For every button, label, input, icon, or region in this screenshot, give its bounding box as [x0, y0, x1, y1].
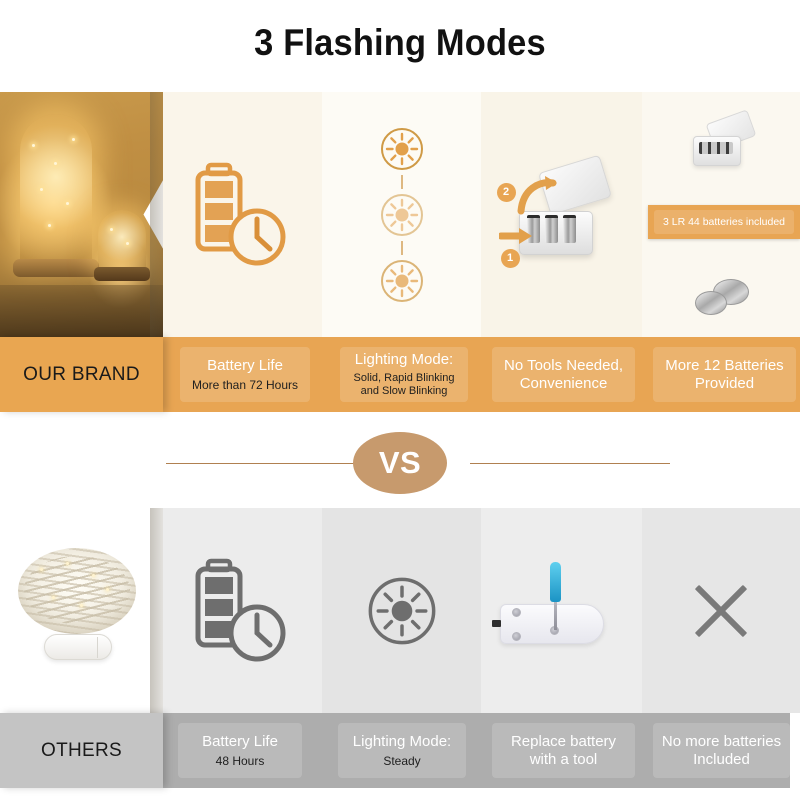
screwdriver-case-icon [492, 556, 632, 666]
our-brand-photo [0, 92, 163, 337]
battery-box-icon: 2 1 [497, 155, 627, 275]
feature-card-no-batteries-bottom: No more batteries Included [653, 723, 790, 778]
panel-lighting-mode-bottom [322, 508, 481, 713]
feature-title: Lighting Mode: [355, 351, 453, 369]
feature-title: No more batteries [662, 733, 781, 751]
coin-cell-batteries-icon [689, 277, 753, 319]
sun-icon-rapid-blink [378, 191, 426, 239]
vs-divider: VS [0, 432, 800, 496]
others-row: OTHERS Battery Life 48 Hours Lighting Mo… [0, 508, 800, 788]
our-brand-row: 2 1 3 LR 44 batter [0, 92, 800, 420]
infographic-page: 3 Flashing Modes [0, 0, 800, 800]
panel-lighting-mode-top [322, 92, 481, 337]
others-label-bar: OTHERS Battery Life 48 Hours Lighting Mo… [0, 713, 790, 788]
feature-title-line2: Provided [695, 375, 754, 393]
feature-subtitle: More than 72 Hours [192, 378, 298, 392]
page-title: 3 Flashing Modes [28, 22, 772, 64]
step-marker-1: 1 [501, 249, 520, 268]
panel-battery-life-top [163, 92, 322, 337]
feature-title: Lighting Mode: [353, 733, 451, 751]
others-photo [0, 508, 163, 713]
badge-label: 3 LR 44 batteries included [654, 210, 794, 234]
sun-connector-2 [397, 241, 407, 255]
step-1-arrow-icon [499, 225, 533, 247]
our-brand-panels: 2 1 3 LR 44 batter [0, 92, 800, 337]
vs-line-left [166, 463, 362, 464]
feature-subtitle: Solid, Rapid Blinking [354, 372, 455, 385]
sun-icon-slow-blink [378, 257, 426, 305]
our-brand-label: OUR BRAND [0, 337, 163, 412]
battery-clock-icon [195, 161, 291, 269]
panel-no-tools-top: 2 1 [481, 92, 642, 337]
feature-title: Replace battery [511, 733, 616, 751]
batteries-included-badge: 3 LR 44 batteries included [648, 205, 800, 239]
feature-subtitle: 48 Hours [216, 754, 265, 768]
others-label: OTHERS [0, 713, 163, 788]
feature-card-batteries-provided-top: More 12 Batteries Provided [653, 347, 796, 402]
table-surface [0, 285, 163, 337]
sun-icon-solid [378, 125, 426, 173]
fairy-light-coil [18, 548, 136, 634]
feature-subtitle-line2: and Slow Blinking [361, 385, 448, 398]
vs-badge: VS [353, 432, 447, 494]
panel-batteries-provided-top: 3 LR 44 batteries included [642, 92, 800, 337]
panel-replace-battery-bottom [481, 508, 642, 713]
sun-icon [364, 573, 440, 649]
step-2-arrow-icon [515, 175, 559, 215]
case-tab [492, 620, 501, 627]
feature-title-line2: with a tool [530, 751, 598, 769]
battery-pack [44, 634, 112, 660]
panel-battery-life-bottom [163, 508, 322, 713]
string-light-photo-image [0, 508, 163, 713]
sun-connector-1 [397, 175, 407, 189]
battery-clock-icon [195, 557, 291, 665]
vs-line-right [470, 463, 670, 464]
panel-no-batteries-bottom [642, 508, 800, 713]
feature-title-line2: Convenience [520, 375, 608, 393]
feature-title: No Tools Needed, [504, 357, 623, 375]
feature-card-lighting-mode-bottom: Lighting Mode: Steady [338, 723, 466, 778]
feature-card-battery-life-bottom: Battery Life 48 Hours [178, 723, 302, 778]
feature-subtitle: Steady [383, 754, 420, 768]
step-marker-2: 2 [497, 183, 516, 202]
feature-title: Battery Life [202, 733, 278, 751]
dome-lamp-small [98, 210, 146, 270]
our-brand-label-bar: OUR BRAND Battery Life More than 72 Hour… [0, 337, 800, 412]
feature-card-replace-battery-bottom: Replace battery with a tool [492, 723, 635, 778]
feature-title: More 12 Batteries [665, 357, 783, 375]
lamp-photo-image [0, 92, 163, 337]
battery-box-small-icon [691, 116, 751, 168]
dome-lamp-large [20, 114, 92, 264]
feature-card-battery-life-top: Battery Life More than 72 Hours [180, 347, 310, 402]
feature-title-line2: Included [693, 751, 750, 769]
feature-card-no-tools-top: No Tools Needed, Convenience [492, 347, 635, 402]
others-panels [0, 508, 800, 713]
feature-title: Battery Life [207, 357, 283, 375]
feature-card-lighting-mode-top: Lighting Mode: Solid, Rapid Blinking and… [340, 347, 468, 402]
screwdriver-handle [550, 562, 561, 602]
screwdriver-shaft [554, 600, 557, 630]
x-mark-icon [688, 578, 754, 644]
